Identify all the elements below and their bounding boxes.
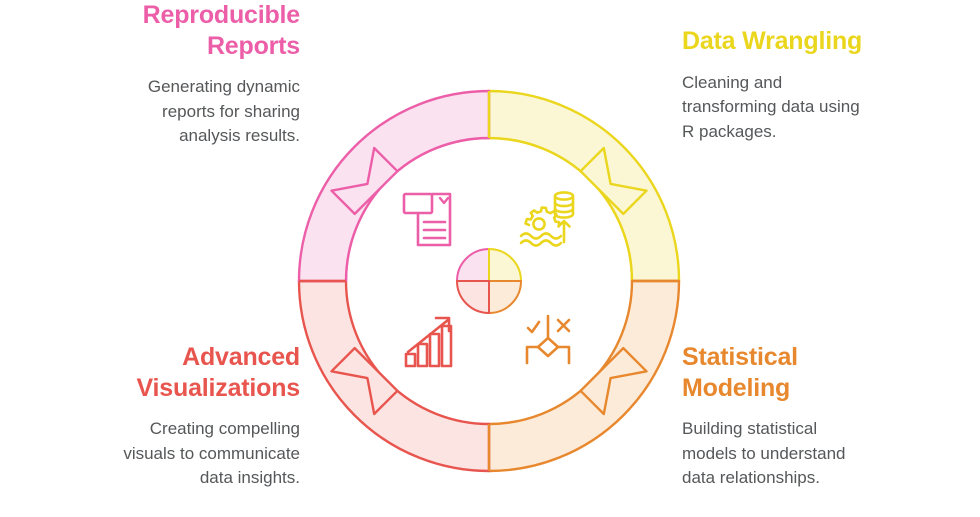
decision-model-icon	[527, 316, 569, 363]
desc-line-3: data relationships.	[682, 468, 820, 487]
title-line-2: Reports	[207, 32, 300, 60]
quadrant-title-reproducible-reports: Reproducible Reports	[50, 0, 300, 61]
center-pie-slice-modeling	[489, 281, 521, 313]
title-line-1: Statistical	[682, 343, 798, 371]
quadrant-description-data-wrangling: Cleaning and transforming data using R p…	[682, 71, 932, 145]
bar-chart-growth-icon	[406, 318, 451, 366]
desc-line-3: analysis results.	[179, 126, 300, 145]
quadrant-title-statistical-modeling: Statistical Modeling	[682, 342, 932, 403]
desc-line-1: Building statistical	[682, 419, 817, 438]
title-line-1: Reproducible	[143, 1, 300, 29]
desc-line-2: visuals to communicate	[123, 444, 300, 463]
desc-line-2: reports for sharing	[162, 102, 300, 121]
title-line-1: Data Wrangling	[682, 27, 862, 55]
data-pipeline-icon	[521, 192, 573, 245]
report-document-icon	[404, 194, 450, 245]
infographic-canvas: Reproducible Reports Generating dynamic …	[0, 0, 980, 517]
ring-segment-data-wrangling-band[interactable]	[489, 91, 679, 281]
title-line-2: Modeling	[682, 374, 790, 402]
quadrant-reproducible-reports[interactable]: Reproducible Reports Generating dynamic …	[50, 0, 300, 149]
desc-line-1: Creating compelling	[150, 419, 300, 438]
quadrant-description-statistical-modeling: Building statistical models to understan…	[682, 417, 932, 491]
title-line-1: Advanced	[182, 343, 300, 371]
quadrant-title-advanced-visualizations: Advanced Visualizations	[50, 342, 300, 403]
desc-line-3: R packages.	[682, 122, 777, 141]
center-pie-slice-reports	[457, 249, 489, 281]
quadrant-description-advanced-visualizations: Creating compelling visuals to communica…	[50, 417, 300, 491]
center-pie-slice-wrangling	[489, 249, 521, 281]
ring-segment-advanced-visualizations[interactable]	[299, 281, 489, 471]
ring-segment-reproducible-reports-band[interactable]	[299, 91, 489, 281]
desc-line-1: Cleaning and	[682, 73, 782, 92]
desc-line-3: data insights.	[200, 468, 300, 487]
desc-line-2: models to understand	[682, 444, 846, 463]
center-pie-slice-visualizations	[457, 281, 489, 313]
quadrant-title-data-wrangling: Data Wrangling	[682, 26, 932, 57]
center-pie	[457, 249, 521, 313]
desc-line-1: Generating dynamic	[148, 77, 300, 96]
ring-segment-statistical-modeling[interactable]	[489, 281, 679, 471]
quadrant-statistical-modeling[interactable]: Statistical Modeling Building statistica…	[682, 342, 932, 491]
quadrant-data-wrangling[interactable]: Data Wrangling Cleaning and transforming…	[682, 26, 932, 144]
quadrant-description-reproducible-reports: Generating dynamic reports for sharing a…	[50, 75, 300, 149]
desc-line-2: transforming data using	[682, 97, 860, 116]
title-line-2: Visualizations	[137, 374, 300, 402]
quadrant-advanced-visualizations[interactable]: Advanced Visualizations Creating compell…	[50, 342, 300, 491]
